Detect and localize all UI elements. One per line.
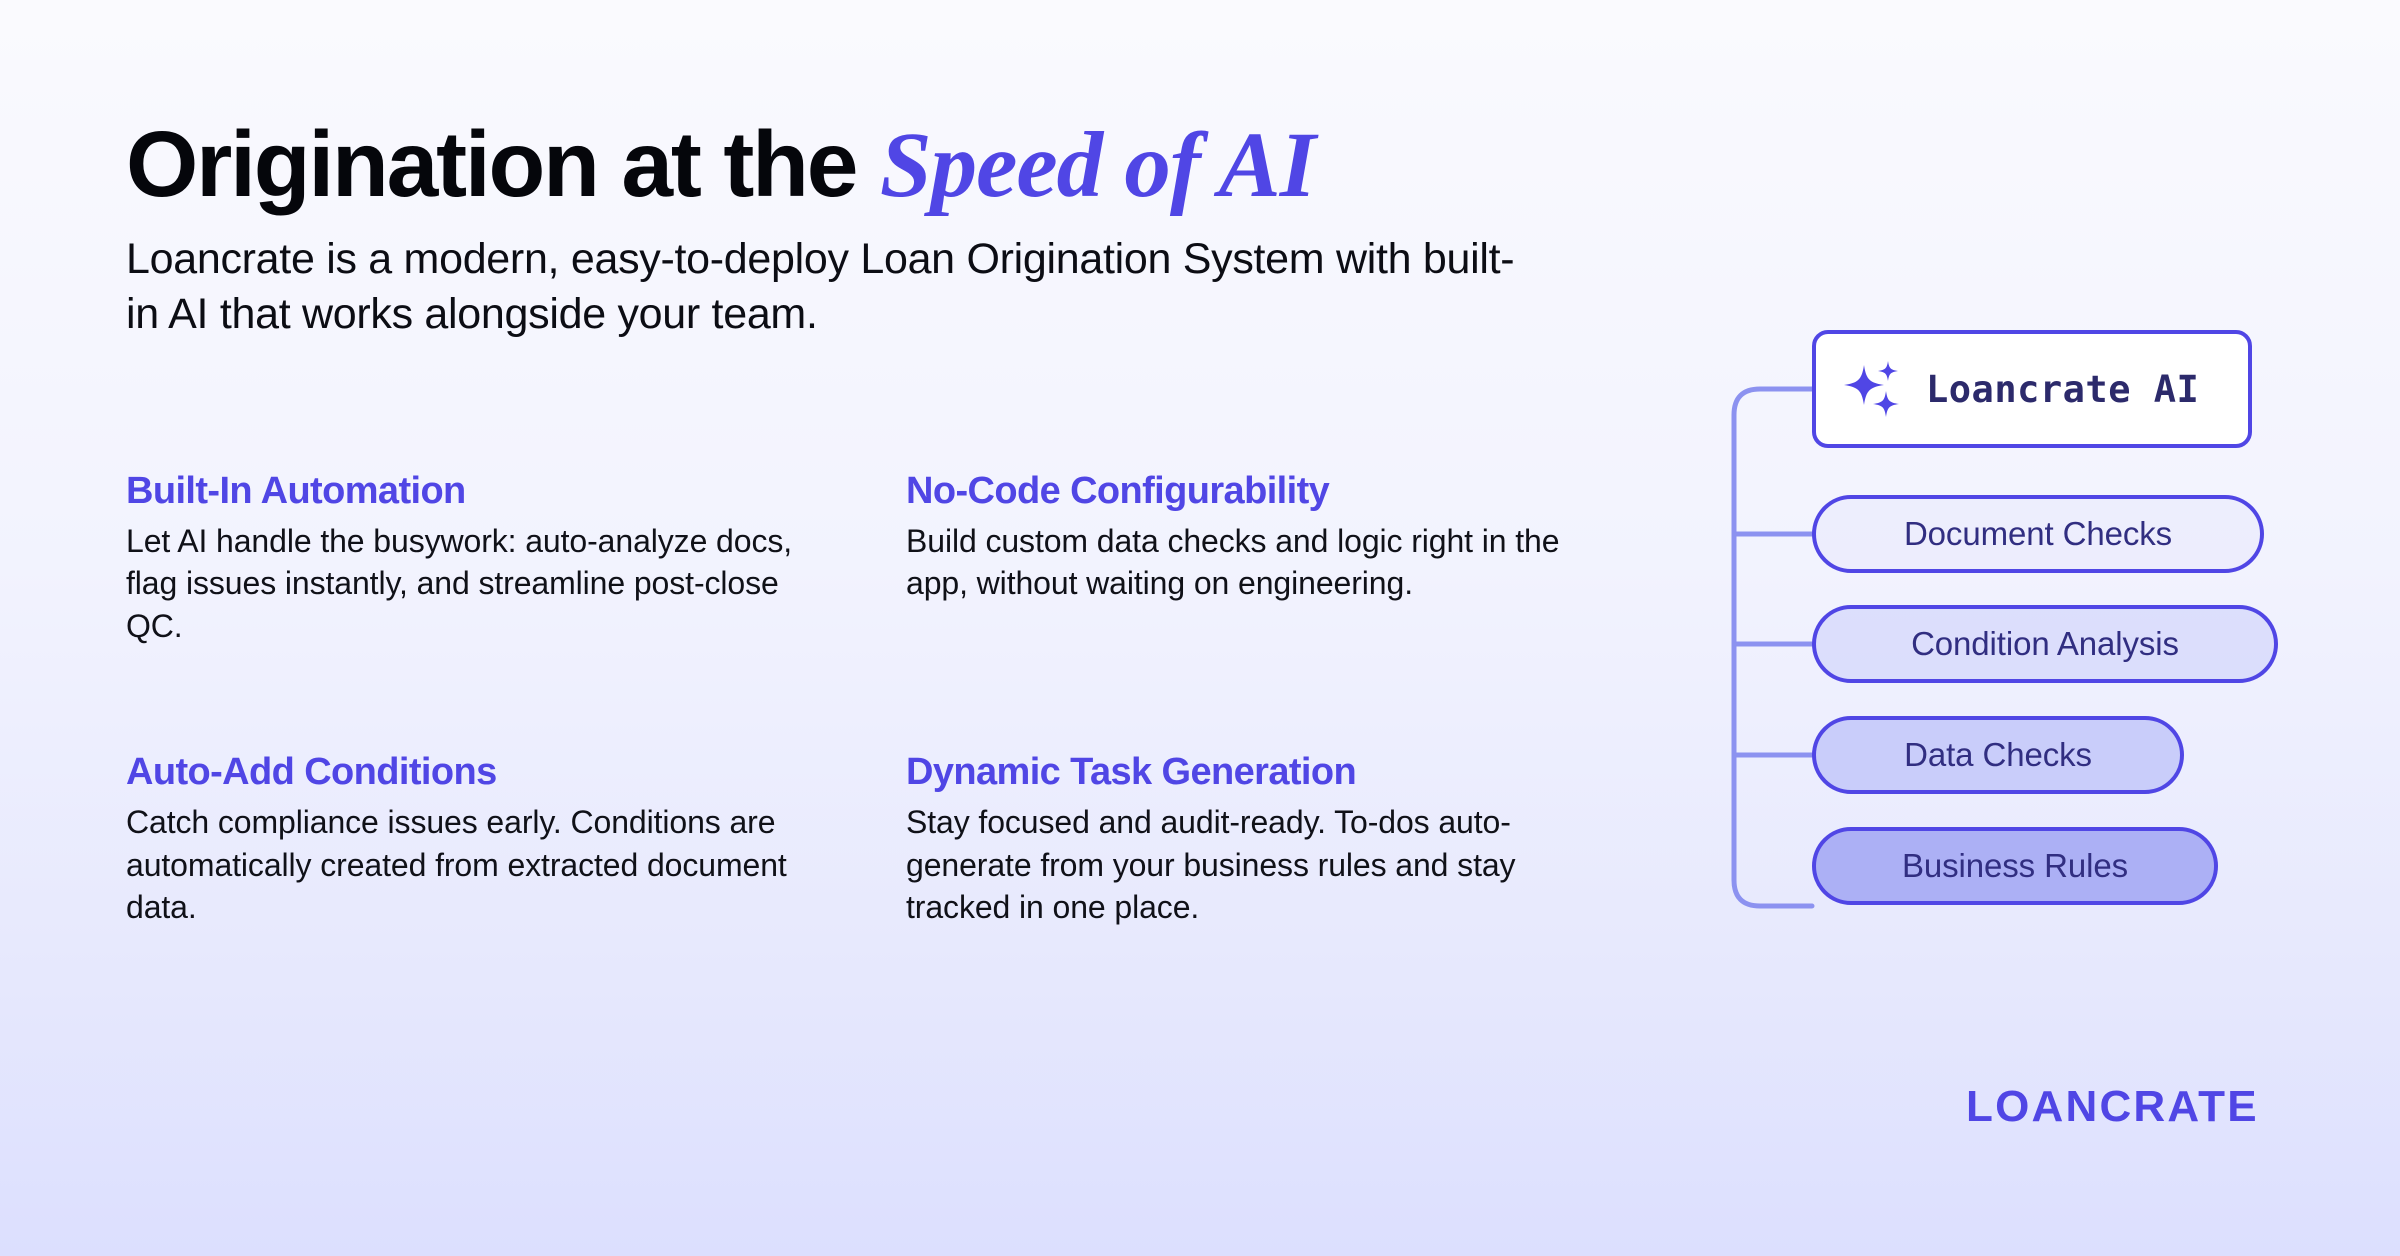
feature-body: Build custom data checks and logic right…: [906, 520, 1566, 605]
node-data-checks[interactable]: Data Checks: [1812, 716, 2184, 794]
page-title: Origination at the Speed of AI: [126, 118, 1686, 212]
hero-subhead: Loancrate is a modern, easy-to-deploy Lo…: [126, 232, 1516, 342]
node-label: Data Checks: [1904, 736, 2092, 774]
feature-no-code-configurability: No-Code Configurability Build custom dat…: [906, 470, 1606, 647]
feature-body: Stay focused and audit-ready. To-dos aut…: [906, 801, 1566, 929]
loancrate-ai-badge[interactable]: Loancrate AI: [1812, 330, 2252, 448]
ai-capability-diagram: Loancrate AI Document Checks Condition A…: [1700, 320, 2320, 960]
hero-section: Origination at the Speed of AI Loancrate…: [126, 118, 1686, 342]
feature-grid: Built-In Automation Let AI handle the bu…: [126, 470, 1686, 929]
feature-title: Built-In Automation: [126, 470, 826, 514]
feature-auto-add-conditions: Auto-Add Conditions Catch compliance iss…: [126, 751, 826, 928]
node-condition-analysis[interactable]: Condition Analysis: [1812, 605, 2278, 683]
feature-built-in-automation: Built-In Automation Let AI handle the bu…: [126, 470, 826, 647]
feature-title: Auto-Add Conditions: [126, 751, 826, 795]
feature-dynamic-task-generation: Dynamic Task Generation Stay focused and…: [906, 751, 1606, 928]
headline-accent: Speed of AI: [880, 114, 1315, 217]
node-label: Document Checks: [1904, 515, 2172, 553]
loancrate-ai-label: Loancrate AI: [1926, 368, 2199, 411]
node-label: Business Rules: [1902, 847, 2128, 885]
feature-title: Dynamic Task Generation: [906, 751, 1606, 795]
feature-body: Let AI handle the busywork: auto-analyze…: [126, 520, 826, 648]
poster-canvas: Origination at the Speed of AI Loancrate…: [0, 0, 2400, 1256]
node-document-checks[interactable]: Document Checks: [1812, 495, 2264, 573]
headline-main: Origination at the: [126, 112, 880, 216]
sparkles-icon: [1842, 357, 1906, 421]
feature-body: Catch compliance issues early. Condition…: [126, 801, 826, 929]
loancrate-wordmark: LOANCRATE: [1966, 1082, 2259, 1132]
feature-title: No-Code Configurability: [906, 470, 1606, 514]
node-label: Condition Analysis: [1911, 625, 2179, 663]
node-business-rules[interactable]: Business Rules: [1812, 827, 2218, 905]
